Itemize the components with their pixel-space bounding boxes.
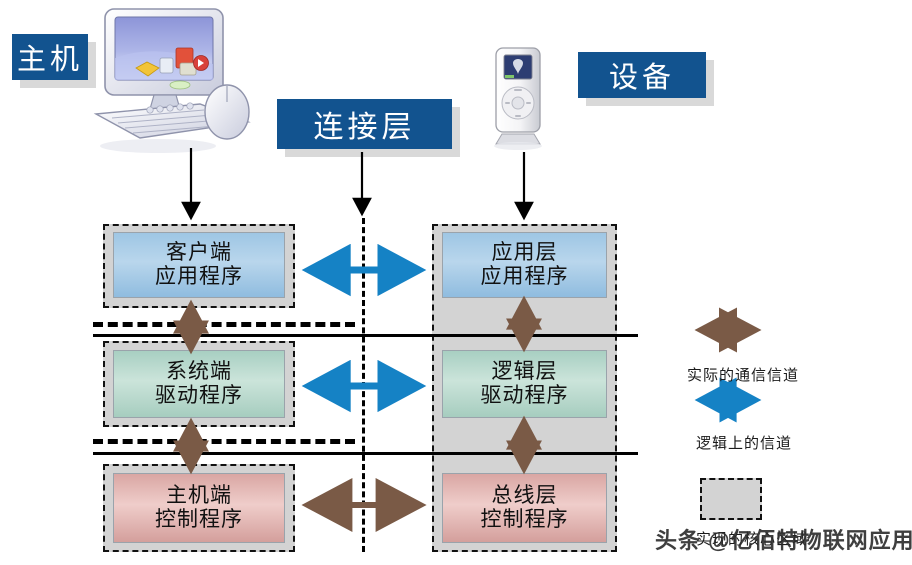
box-system-driver-line2: 驱动程序 (155, 384, 243, 408)
box-app-layer-line1: 应用层 (492, 241, 558, 265)
box-app-layer: 应用层 应用程序 (442, 232, 607, 298)
label-device-text: 设备 (609, 54, 675, 96)
separator-dashed-lower (93, 439, 355, 444)
box-logic-layer: 逻辑层 驱动程序 (442, 350, 607, 418)
separator-solid-lower (93, 452, 638, 455)
label-host: 主机 (12, 34, 88, 80)
diagram-canvas: 主机 连接层 设备 客户端 应用程序 系统端 驱动程序 主机端 控制程序 应用层… (0, 0, 912, 565)
connection-layer-divider (362, 218, 365, 552)
box-client-app-line1: 客户端 (166, 241, 232, 265)
box-logic-layer-line2: 驱动程序 (481, 384, 569, 408)
box-system-driver: 系统端 驱动程序 (113, 350, 285, 418)
host-computer-illustration (88, 6, 258, 158)
device-illustration (488, 46, 554, 158)
separator-dashed-upper (93, 322, 355, 327)
box-system-driver-line1: 系统端 (166, 360, 232, 384)
label-connection-layer-text: 连接层 (314, 102, 416, 146)
box-logic-layer-line1: 逻辑层 (492, 360, 558, 384)
separator-solid-upper (93, 334, 638, 337)
label-device: 设备 (578, 52, 706, 98)
box-bus-layer-line2: 控制程序 (481, 508, 569, 532)
box-bus-layer-line1: 总线层 (492, 484, 558, 508)
box-host-control: 主机端 控制程序 (113, 473, 285, 543)
watermark: 头条 @亿佰特物联网应用 (655, 523, 912, 555)
label-connection-layer: 连接层 (277, 99, 452, 149)
legend-label-physical-channel: 实际的通信信道 (687, 364, 799, 385)
legend-label-logical-channel: 逻辑上的信道 (696, 432, 792, 453)
label-host-text: 主机 (17, 36, 83, 78)
box-client-app: 客户端 应用程序 (113, 232, 285, 298)
box-bus-layer: 总线层 控制程序 (442, 473, 607, 543)
legend-swatch-core-region (700, 478, 762, 520)
box-client-app-line2: 应用程序 (155, 265, 243, 289)
box-app-layer-line2: 应用程序 (481, 265, 569, 289)
box-host-control-line2: 控制程序 (155, 508, 243, 532)
box-host-control-line1: 主机端 (166, 484, 232, 508)
